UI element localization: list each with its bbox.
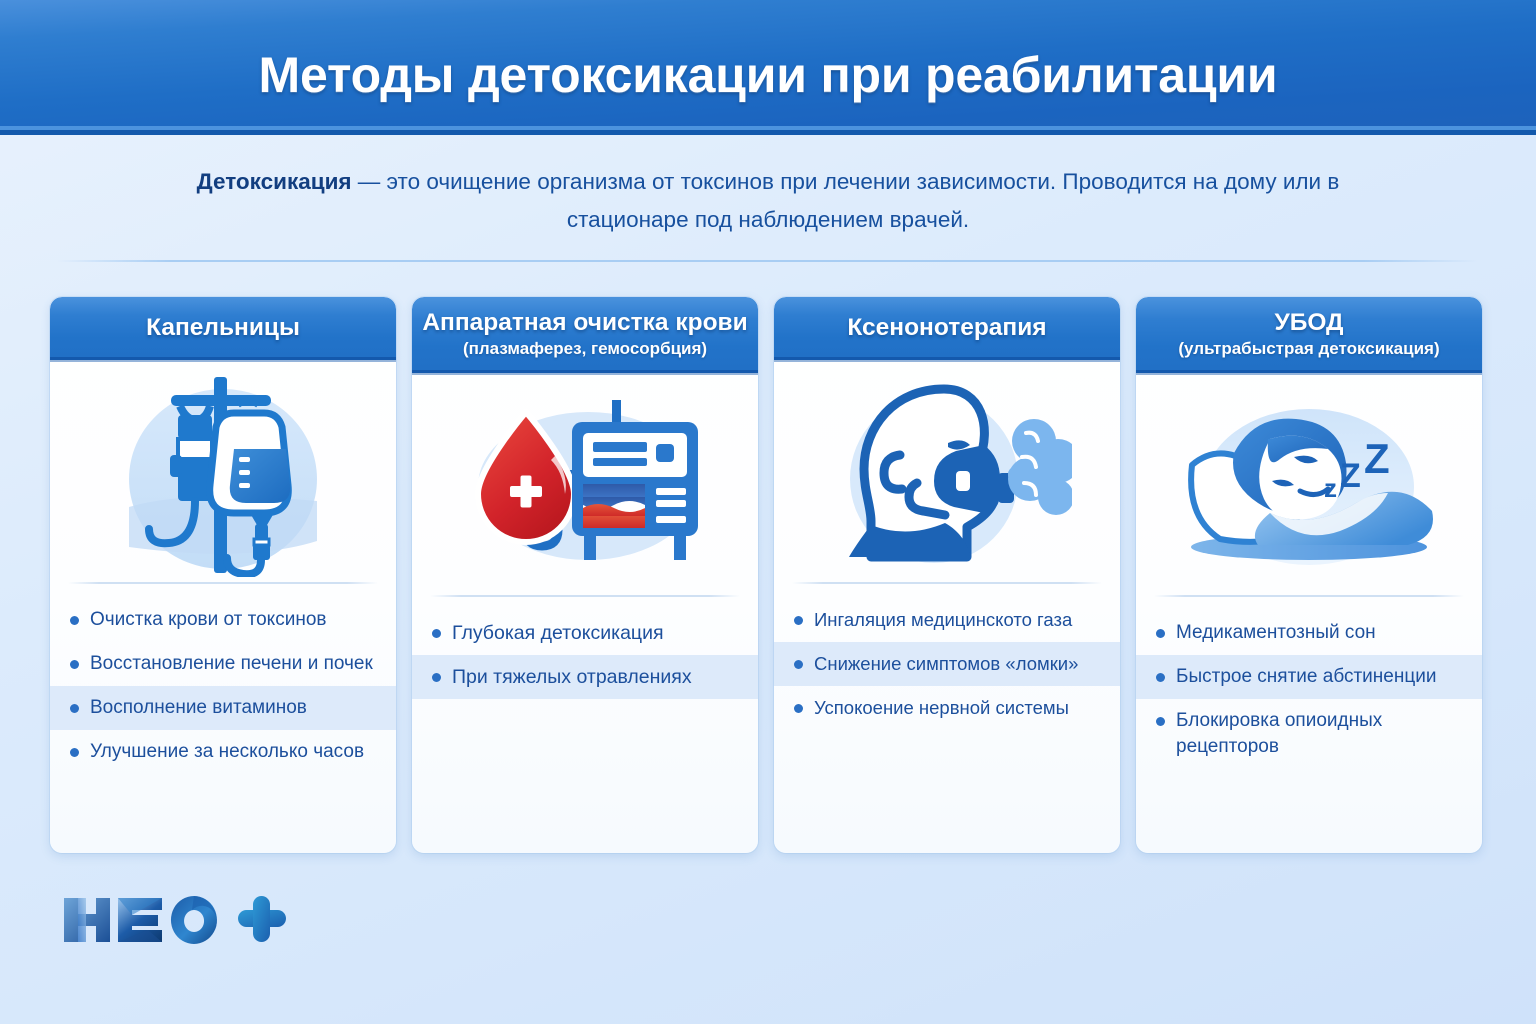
bullet-dot (794, 616, 803, 625)
card-title: Аппаратная очистка крови (422, 308, 748, 338)
list-item-label: При тяжелых отравлениях (452, 664, 744, 690)
svg-text:Z: Z (1364, 435, 1390, 482)
list-item-label: Быстрое снятие абстиненции (1176, 664, 1468, 690)
method-card-apparatnaya-ochistka-krovi[interactable]: Аппаратная очистка крови (плазмаферез, г… (412, 297, 758, 853)
bullet-dot (794, 660, 803, 669)
svg-text:z: z (1324, 473, 1337, 503)
bullet-dot (794, 704, 803, 713)
bullet-dot (1156, 717, 1165, 726)
list-item: Улучшение за несколько часов (50, 730, 396, 774)
method-card-ksenonoterapiya[interactable]: Ксенонотерапия (774, 297, 1120, 853)
benefit-list: Глубокая детоксикация При тяжелых отравл… (412, 597, 758, 853)
list-item: Блокировка опиоидных рецепторов (1136, 699, 1482, 769)
benefit-list: Ингаляция медицинското газа Снижение сим… (774, 584, 1120, 853)
method-card-kapelnicy[interactable]: Капельницы (50, 297, 396, 853)
gas-inhalation-mask-icon (774, 362, 1120, 582)
bullet-dot (1156, 673, 1165, 682)
bullet-dot (70, 616, 79, 625)
iv-drip-icon (50, 362, 396, 582)
bullet-dot (1156, 629, 1165, 638)
list-item-label: Глубокая детоксикация (452, 620, 744, 646)
intro-paragraph: Детоксикация — это очищение организма от… (168, 163, 1368, 239)
benefit-list: Очистка крови от токсинов Восстановление… (50, 584, 396, 853)
list-item-label: Восполнение витаминов (90, 695, 382, 721)
card-title: УБОД (1146, 308, 1472, 338)
page-title: Методы детоксикации при реабилитации (0, 46, 1536, 104)
list-item: Ингаляция медицинското газа (774, 598, 1120, 642)
list-item-label: Ингаляция медицинското газа (814, 607, 1106, 633)
list-item-label: Снижение симптомов «ломки» (814, 651, 1106, 677)
bullet-dot (70, 748, 79, 757)
list-item-label: Восстановление печени и почек (90, 651, 382, 677)
list-item-label: Улучшение за несколько часов (90, 739, 382, 765)
list-item-highlighted: Снижение симптомов «ломки» (774, 642, 1120, 686)
bullet-dot (70, 660, 79, 669)
card-subtitle: (плазмаферез, гемосорбция) (422, 338, 748, 360)
intro-divider (57, 260, 1477, 262)
list-item-highlighted: Быстрое снятие абстиненции (1136, 655, 1482, 699)
card-header: Ксенонотерапия (774, 297, 1120, 362)
intro-lead-term: Детоксикация (197, 169, 352, 194)
list-item: Успокоение нервной системы (774, 686, 1120, 730)
list-item-label: Очистка крови от токсинов (90, 607, 382, 633)
list-item-highlighted: При тяжелых отравлениях (412, 655, 758, 699)
card-header: Капельницы (50, 297, 396, 362)
card-header: Аппаратная очистка крови (плазмаферез, г… (412, 297, 758, 375)
list-item: Восстановление печени и почек (50, 642, 396, 686)
card-subtitle: (ультрабыстрая детоксикация) (1146, 338, 1472, 360)
neo-plus-logo (60, 888, 290, 950)
card-title: Капельницы (60, 308, 386, 347)
method-cards-row: Капельницы (50, 297, 1482, 853)
header-banner: Методы детоксикации при реабилитации (0, 0, 1536, 135)
list-item-highlighted: Восполнение витаминов (50, 686, 396, 730)
bullet-dot (432, 629, 441, 638)
benefit-list: Медикаментозный сон Быстрое снятие абсти… (1136, 597, 1482, 853)
list-item-label: Блокировка опиоидных рецепторов (1176, 708, 1468, 760)
svg-text:Z: Z (1340, 457, 1361, 495)
sleeping-patient-icon: z Z Z (1136, 375, 1482, 595)
list-item-label: Медикаментозный сон (1176, 620, 1468, 646)
bullet-dot (432, 673, 441, 682)
list-item-label: Успокоение нервной системы (814, 695, 1106, 721)
list-item: Глубокая детоксикация (412, 611, 758, 655)
method-card-ubod[interactable]: УБОД (ультрабыстрая детоксикация) (1136, 297, 1482, 853)
list-item: Очистка крови от токсинов (50, 598, 396, 642)
card-title: Ксенонотерапия (784, 308, 1110, 347)
blood-purification-machine-icon (412, 375, 758, 595)
bullet-dot (70, 704, 79, 713)
list-item: Медикаментозный сон (1136, 611, 1482, 655)
card-header: УБОД (ультрабыстрая детоксикация) (1136, 297, 1482, 375)
intro-body-text: — это очищение организма от токсинов при… (352, 169, 1340, 232)
